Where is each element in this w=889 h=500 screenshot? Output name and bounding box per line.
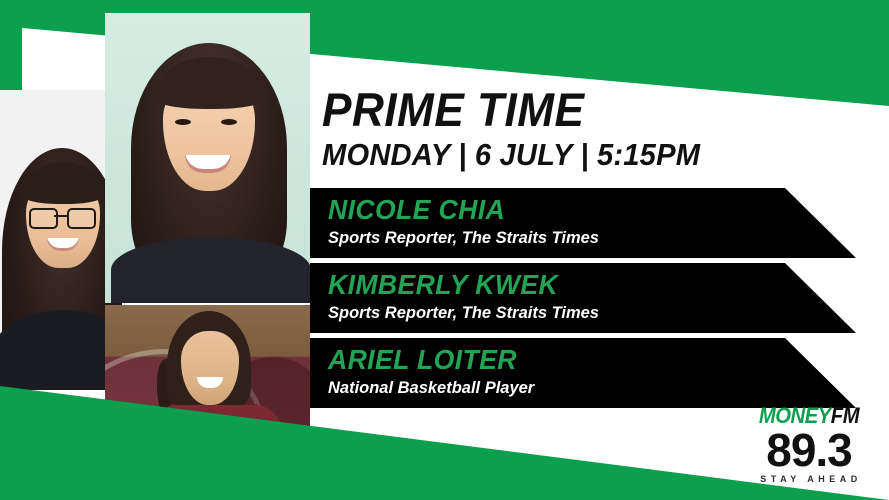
guest-bar-2: KIMBERLY KWEK Sports Reporter, The Strai…: [310, 263, 856, 333]
logo-frequency: 89.3: [745, 428, 873, 472]
guest-photo-2: [105, 13, 310, 303]
photo-2-eye-left: [175, 119, 191, 125]
photo-1-glasses-left: [29, 208, 58, 229]
guest-name-1: NICOLE CHIA: [328, 196, 505, 224]
logo-fm-text: FM: [831, 403, 859, 428]
guest-name-3: ARIEL LOITER: [328, 346, 517, 374]
photo-1-glasses-bridge: [54, 215, 67, 217]
guest-photo-1: [0, 90, 122, 390]
guest-role-2: Sports Reporter, The Straits Times: [328, 304, 599, 321]
show-title: PRIME TIME: [322, 86, 700, 133]
logo-tagline: STAY AHEAD: [745, 474, 873, 484]
promo-poster: COLGATE 2 PRIME TIME MONDAY | 6 JULY | 5…: [0, 0, 889, 500]
photo-1-glasses-right: [67, 208, 96, 229]
guest-bar-3: ARIEL LOITER National Basketball Player: [310, 338, 856, 408]
logo-wordmark: MONEYFM: [750, 405, 868, 427]
guest-role-3: National Basketball Player: [328, 379, 534, 396]
station-logo: MONEYFM 89.3 STAY AHEAD: [745, 405, 873, 484]
guest-name-2: KIMBERLY KWEK: [328, 271, 558, 299]
title-block: PRIME TIME MONDAY | 6 JULY | 5:15PM: [322, 86, 724, 170]
guest-bar-1: NICOLE CHIA Sports Reporter, The Straits…: [310, 188, 856, 258]
photo-2-eye-right: [221, 119, 237, 125]
show-schedule: MONDAY | 6 JULY | 5:15PM: [322, 139, 700, 170]
guest-role-1: Sports Reporter, The Straits Times: [328, 229, 599, 246]
photo-1-shoulders: [0, 310, 122, 390]
photo-2-shoulders: [111, 237, 310, 303]
logo-money-text: MONEY: [759, 403, 831, 428]
